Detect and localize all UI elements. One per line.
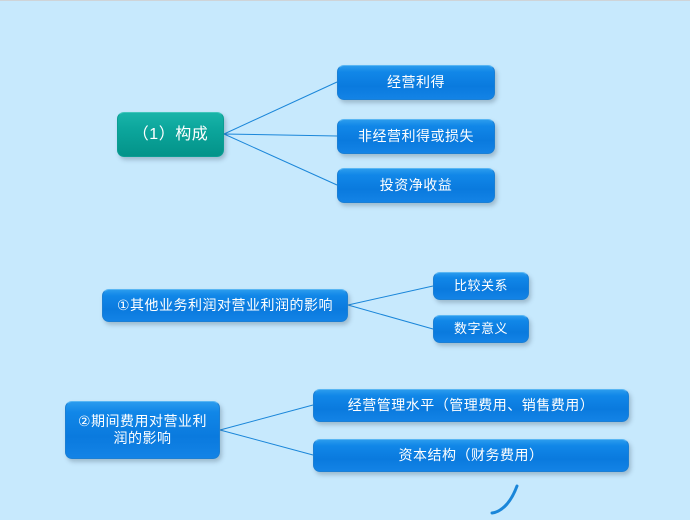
connector-root3-to-s3b xyxy=(220,430,313,455)
node-operating-gain[interactable]: 经营利得 xyxy=(337,65,495,100)
node-label: 投资净收益 xyxy=(374,177,459,195)
node-root-period-expense-impact[interactable]: ②期间费用对营业利 润的影响 xyxy=(65,401,220,459)
node-label: ①其他业务利润对营业利润的影响 xyxy=(111,297,339,315)
node-non-operating-gain-loss[interactable]: 非经营利得或损失 xyxy=(337,119,495,154)
node-label: 非经营利得或损失 xyxy=(352,128,480,146)
node-net-investment-income[interactable]: 投资净收益 xyxy=(337,168,495,203)
node-label: （1）构成 xyxy=(127,125,214,145)
node-label: 数字意义 xyxy=(448,321,514,337)
connector-root1-to-s1b xyxy=(224,134,337,136)
mindmap-canvas: （1）构成 经营利得 非经营利得或损失 投资净收益 ①其他业务利润对营业利润的影… xyxy=(0,0,690,520)
curved-stroke-mark-icon xyxy=(490,481,530,517)
node-label: ②期间费用对营业利 润的影响 xyxy=(72,413,213,448)
connector-root1-to-s1c xyxy=(224,134,337,185)
node-label: 资本结构（财务费用） xyxy=(393,447,550,465)
connector-root1-to-s1a xyxy=(224,82,337,134)
node-root-other-business-profit-impact[interactable]: ①其他业务利润对营业利润的影响 xyxy=(102,289,348,322)
node-label: 经营利得 xyxy=(381,74,451,92)
node-label: 比较关系 xyxy=(448,278,514,294)
node-management-level[interactable]: 经营管理水平（管理费用、销售费用） xyxy=(313,389,629,422)
connector-root2-to-s2a xyxy=(348,286,433,305)
node-capital-structure[interactable]: 资本结构（财务费用） xyxy=(313,439,629,472)
node-label: 经营管理水平（管理费用、销售费用） xyxy=(342,397,601,415)
connector-root2-to-s2b xyxy=(348,305,433,329)
connector-root3-to-s3a xyxy=(220,405,313,430)
node-comparison-relation[interactable]: 比较关系 xyxy=(433,272,529,300)
node-numeric-meaning[interactable]: 数字意义 xyxy=(433,315,529,343)
node-root-constitution[interactable]: （1）构成 xyxy=(117,112,224,157)
